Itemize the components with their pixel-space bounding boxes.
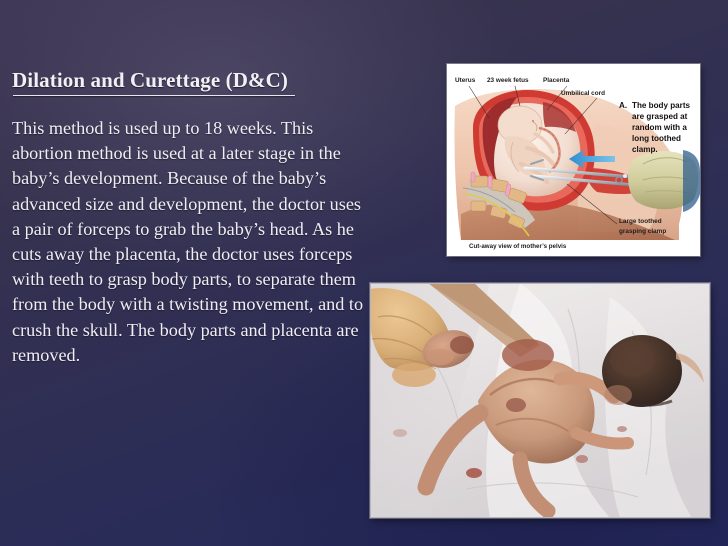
presentation-slide: Dilation and Curettage (D&C) This method…: [0, 0, 728, 546]
label-clamp-line2: grasping clamp: [619, 228, 666, 235]
label-fetus: 23 week fetus: [487, 77, 529, 84]
note-line-4: long toothed: [632, 134, 681, 143]
gloved-hand: [628, 150, 700, 212]
label-clamp-line1: Large toothed: [619, 218, 662, 225]
note-marker: A.: [619, 101, 627, 110]
page-title: Dilation and Curettage (D&C): [12, 68, 288, 93]
label-placenta: Placenta: [543, 77, 570, 84]
note-line-2: are grasped at: [632, 112, 688, 121]
body-paragraph: This method is used up to 18 weeks. This…: [12, 116, 370, 368]
note-line-5: clamp.: [632, 145, 658, 154]
title-underline: [13, 95, 295, 96]
photograph-content: [370, 283, 710, 518]
label-umbilical-cord: Umbilical cord: [561, 90, 605, 97]
label-uterus: Uterus: [455, 77, 476, 84]
note-line-3: random with a: [632, 123, 687, 132]
diagram-caption: Cut-away view of mother’s pelvis: [469, 243, 567, 250]
diagram-illustration: Uterus 23 week fetus Placenta Umbilical …: [447, 64, 700, 256]
clinical-photograph: [370, 283, 710, 518]
medical-diagram: Uterus 23 week fetus Placenta Umbilical …: [447, 64, 700, 256]
note-line-1: The body parts: [632, 101, 691, 110]
